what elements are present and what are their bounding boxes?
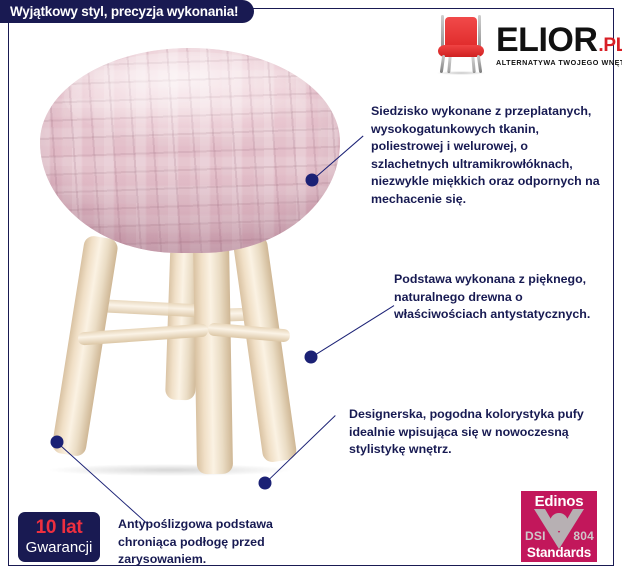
- edinos-subtitle: Standards: [521, 545, 597, 560]
- callout-text-color: Designerska, pogodna kolorystyka pufy id…: [349, 406, 584, 459]
- red-chair-icon: [432, 15, 490, 75]
- callout-text-base: Podstawa wykonana z pięknego, naturalneg…: [394, 271, 604, 324]
- edinos-code-right: 804: [573, 529, 594, 543]
- chair-shadow: [436, 71, 486, 75]
- callout-dot-base[interactable]: [305, 351, 318, 364]
- callout-text-antislip: Antypoślizgowa podstawa chroniąca podłog…: [118, 516, 333, 569]
- headline-text: Wyjątkowy styl, precyzja wykonania!: [10, 4, 238, 19]
- edinos-certificate-badge: Edinos DSI 804 Standards: [521, 491, 597, 562]
- product-image: [40, 40, 350, 490]
- weave-seam-layer: [40, 48, 340, 253]
- woven-pouf-seat: [40, 48, 340, 253]
- callout-dot-antislip[interactable]: [51, 436, 64, 449]
- brand-logo[interactable]: ELIOR .PL ALTERNATYWA TWOJEGO WNĘTRZA: [432, 14, 610, 76]
- stool-leg-front-left: [51, 235, 119, 458]
- callout-dot-color[interactable]: [259, 477, 272, 490]
- callout-text-seat: Siedzisko wykonane z przeplatanych, wyso…: [371, 103, 604, 209]
- floor-shadow: [50, 464, 290, 476]
- brand-domain: .PL: [598, 36, 622, 55]
- stool-leg-front-center: [193, 236, 233, 475]
- infographic-canvas: Wyjątkowy styl, precyzja wykonania! ELIO…: [0, 0, 622, 581]
- edinos-code-left: DSI: [525, 529, 546, 543]
- headline-banner: Wyjątkowy styl, precyzja wykonania!: [0, 0, 254, 23]
- brand-name: ELIOR: [496, 23, 597, 57]
- warranty-word: Gwarancji: [26, 539, 93, 556]
- chair-backrest: [445, 17, 477, 47]
- stool-brace-upper-left: [40, 37, 144, 42]
- edinos-title: Edinos: [521, 493, 597, 510]
- stool-leg-right: [232, 235, 297, 464]
- brand-tagline: ALTERNATYWA TWOJEGO WNĘTRZA: [496, 58, 622, 67]
- warranty-years: 10 lat: [36, 518, 83, 537]
- brand-wordmark: ELIOR .PL ALTERNATYWA TWOJEGO WNĘTRZA: [496, 23, 622, 67]
- callout-dot-seat[interactable]: [306, 174, 319, 187]
- warranty-badge: 10 lat Gwarancji: [18, 512, 100, 562]
